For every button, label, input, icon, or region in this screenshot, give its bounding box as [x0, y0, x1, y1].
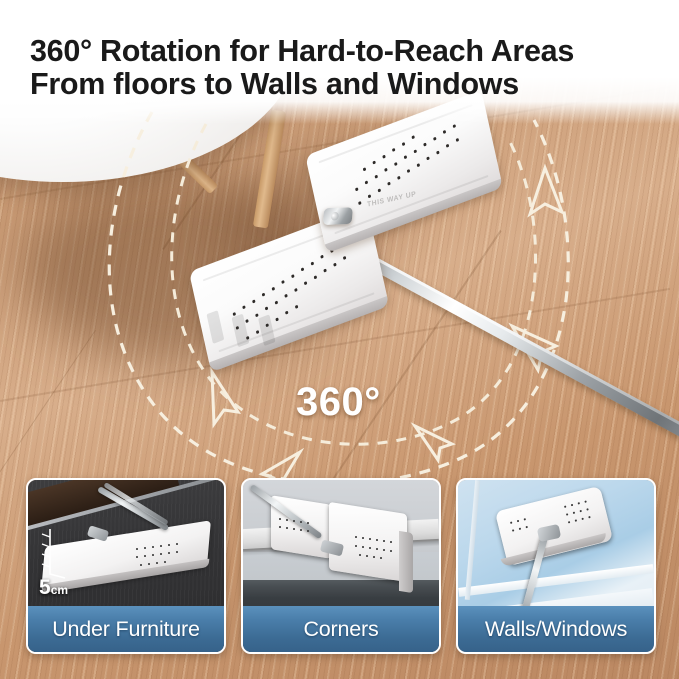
- mop-head: THIS WAY UP: [167, 82, 529, 396]
- panel-caption-bar: Walls/Windows: [458, 606, 654, 652]
- panel-walls-windows[interactable]: Walls/Windows: [456, 478, 656, 654]
- panel-caption-bar: Corners: [243, 606, 439, 652]
- measurement-value: 5: [39, 576, 51, 599]
- panel-caption-bar: Under Furniture: [28, 606, 224, 652]
- height-measure-bracket: [36, 528, 66, 580]
- product-feature-image: .arcline{fill:none;stroke:#f7efdf;stroke…: [0, 0, 679, 679]
- headline-line-1: 360° Rotation for Hard-to-Reach Areas: [30, 35, 670, 68]
- headline-line-2: From floors to Walls and Windows: [30, 68, 670, 101]
- panel-corners[interactable]: Corners: [241, 478, 441, 654]
- panel-caption-text: Walls/Windows: [485, 617, 627, 642]
- panel-caption-text: Corners: [303, 617, 378, 642]
- panel-under-furniture[interactable]: 5cm Under Furniture: [26, 478, 226, 654]
- height-measurement-label: 5cm: [39, 576, 68, 600]
- mini-mop-plate-edge: [399, 531, 413, 593]
- page-headline: 360° Rotation for Hard-to-Reach Areas Fr…: [30, 35, 670, 101]
- measurement-unit: cm: [51, 583, 68, 597]
- feature-panels: 5cm Under Furniture: [0, 474, 679, 679]
- panel-caption-text: Under Furniture: [52, 617, 200, 642]
- mini-mop-plate: [329, 502, 407, 582]
